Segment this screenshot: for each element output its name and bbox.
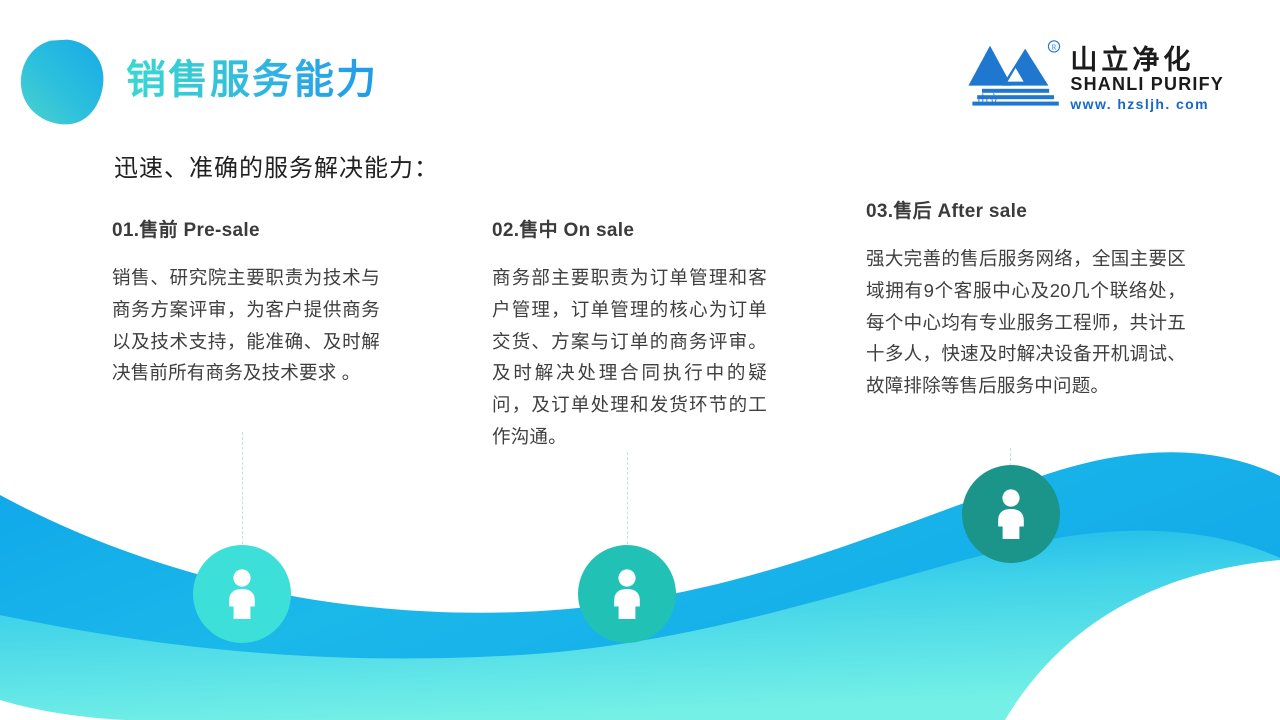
column-heading-on-sale: 02.售中 On sale — [492, 215, 767, 242]
node-circle-on-sale[interactable] — [578, 545, 676, 643]
person-icon — [605, 567, 649, 621]
wave-cutout-left — [0, 700, 125, 720]
mountain-logo-icon: R 山立 — [966, 36, 1062, 108]
column-after-sale: 03.售后 After sale 强大完善的售后服务网络，全国主要区域拥有9个客… — [866, 196, 1186, 402]
node-circle-pre-sale[interactable] — [193, 545, 291, 643]
column-heading-pre-sale: 01.售前 Pre-sale — [112, 215, 380, 242]
page-subtitle: 迅速、准确的服务解决能力： — [114, 148, 439, 183]
column-body-pre-sale: 销售、研究院主要职责为技术与商务方案评审，为客户提供商务以及技术支持，能准确、及… — [112, 262, 380, 389]
company-logo: R 山立 山立净化 SHANLI PURIFY www. hzsljh. com — [966, 36, 1224, 113]
node-circle-after-sale[interactable] — [962, 465, 1060, 563]
logo-name-cn: 山立净化 — [1070, 46, 1194, 74]
logo-mark-label: 山立 — [978, 92, 1000, 106]
person-icon — [989, 487, 1033, 541]
column-on-sale: 02.售中 On sale 商务部主要职责为订单管理和客户管理，订单管理的核心为… — [492, 215, 767, 453]
column-body-on-sale: 商务部主要职责为订单管理和客户管理，订单管理的核心为订单交货、方案与订单的商务评… — [492, 262, 767, 453]
title-decoration-blob — [16, 36, 108, 128]
person-icon — [220, 567, 264, 621]
logo-website-url[interactable]: www. hzsljh. com — [1070, 96, 1209, 113]
column-pre-sale: 01.售前 Pre-sale 销售、研究院主要职责为技术与商务方案评审，为客户提… — [112, 215, 380, 389]
connector-line-pre-sale — [242, 432, 243, 554]
connector-line-on-sale — [627, 452, 628, 554]
wave-cutout-right — [1005, 560, 1280, 720]
column-body-after-sale: 强大完善的售后服务网络，全国主要区域拥有9个客服中心及20几个联络处，每个中心均… — [866, 243, 1186, 402]
slide-canvas: 销售服务能力 R 山立 山立净化 SHANLI PURIFY www. hzsl… — [0, 0, 1280, 720]
column-heading-after-sale: 03.售后 After sale — [866, 196, 1186, 223]
svg-text:R: R — [1052, 44, 1057, 52]
logo-name-en: SHANLI PURIFY — [1070, 74, 1224, 95]
page-title: 销售服务能力 — [126, 56, 378, 104]
logo-text-block: 山立净化 SHANLI PURIFY www. hzsljh. com — [1070, 36, 1224, 113]
